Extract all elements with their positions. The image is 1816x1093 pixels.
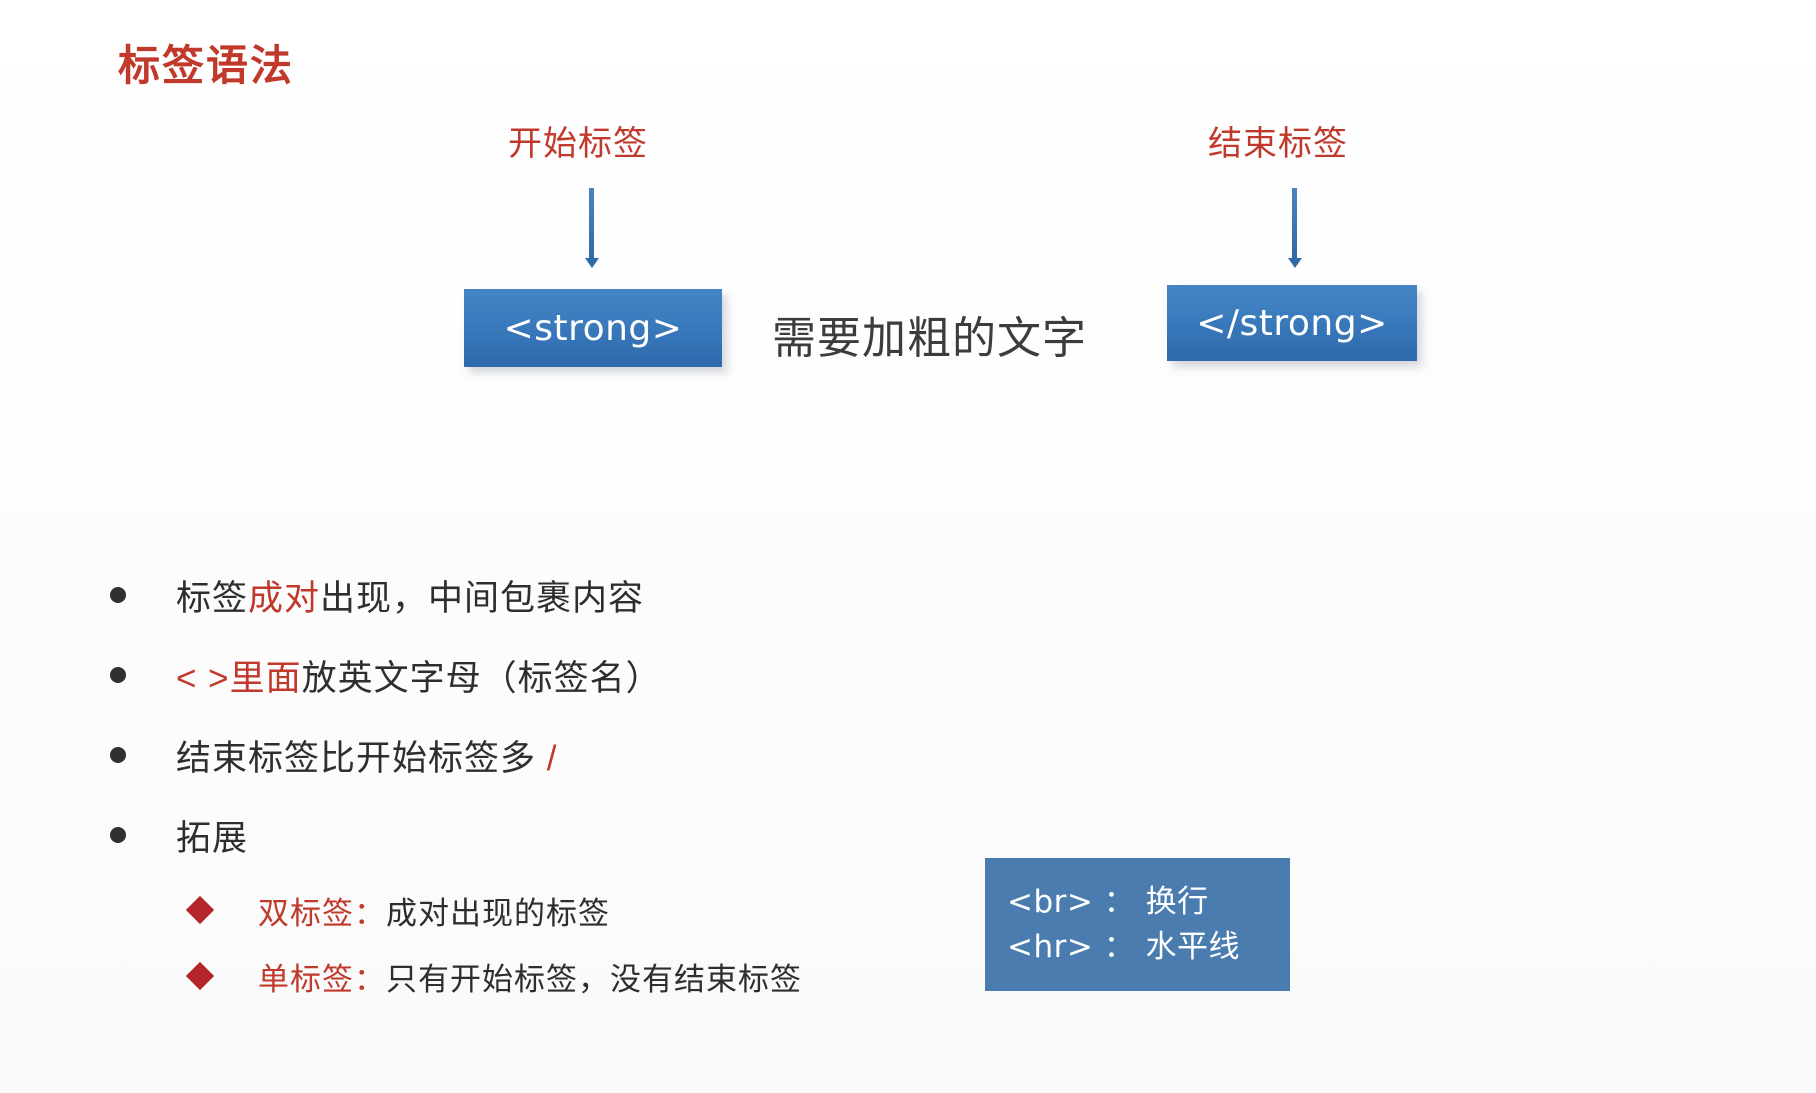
bullet-text: 拓展 [176, 810, 248, 861]
page-title: 标签语法 [118, 32, 294, 93]
plain-text-run: 拓展 [176, 819, 248, 858]
bullet-dot-icon [110, 667, 126, 683]
list-item: < >里面放英文字母（标签名） [110, 635, 1010, 715]
sub-bullet-description: 只有开始标签，没有结束标签 [386, 962, 802, 997]
start-tag-connector-arrow [589, 188, 594, 261]
highlighted-text-run: < >里面 [176, 659, 302, 698]
bullet-text: 标签成对出现，中间包裹内容 [176, 570, 644, 621]
plain-text-run: 放英文字母（标签名） [302, 659, 662, 698]
sub-bullet-text: 双标签：成对出现的标签 [258, 888, 610, 933]
highlighted-text-run: / [547, 739, 558, 778]
arrow-down-icon [585, 258, 599, 268]
bullet-text: < >里面放英文字母（标签名） [176, 650, 662, 701]
sub-bullet-term: 双标签 [258, 896, 354, 931]
sub-bullet-list: 双标签：成对出现的标签 单标签：只有开始标签，没有结束标签 [190, 877, 802, 1009]
bullet-dot-icon [110, 747, 126, 763]
slide-canvas: 标签语法 开始标签 结束标签 <strong> 需要加粗的文字 </strong… [0, 0, 1816, 1093]
list-item: 拓展 [110, 795, 1010, 875]
info-line-br: <br> ： 换行 [1007, 880, 1290, 925]
open-tag-box: <strong> [464, 289, 722, 367]
arrow-down-icon [1288, 258, 1302, 268]
plain-text-run: 出现，中间包裹内容 [320, 579, 644, 618]
end-tag-connector-arrow [1292, 188, 1297, 261]
highlighted-text-run: 成对 [248, 579, 320, 618]
sub-bullet-term: 单标签 [258, 962, 354, 997]
start-tag-callout-label: 开始标签 [508, 116, 648, 165]
list-item: 标签成对出现，中间包裹内容 [110, 555, 1010, 635]
bullet-text: 结束标签比开始标签多 / [176, 730, 557, 781]
sub-bullet-description: 成对出现的标签 [386, 896, 610, 931]
close-tag-box: </strong> [1167, 285, 1417, 361]
info-line-hr: <hr> ： 水平线 [1007, 925, 1290, 970]
bullet-list: 标签成对出现，中间包裹内容 < >里面放英文字母（标签名） 结束标签比开始标签多… [110, 555, 1010, 875]
sub-list-item: 双标签：成对出现的标签 [190, 877, 802, 943]
diamond-bullet-icon [186, 962, 214, 990]
plain-text-run: 结束标签比开始标签多 [176, 739, 547, 778]
diamond-bullet-icon [186, 896, 214, 924]
plain-text-run: 标签 [176, 579, 248, 618]
end-tag-callout-label: 结束标签 [1208, 116, 1348, 165]
sub-bullet-text: 单标签：只有开始标签，没有结束标签 [258, 954, 802, 999]
wrapped-content-text: 需要加粗的文字 [772, 302, 1087, 366]
bullet-dot-icon [110, 587, 126, 603]
sub-list-item: 单标签：只有开始标签，没有结束标签 [190, 943, 802, 1009]
void-tags-info-box: <br> ： 换行 <hr> ： 水平线 [985, 858, 1290, 991]
sub-bullet-separator: ： [354, 896, 386, 931]
sub-bullet-separator: ： [354, 962, 386, 997]
bullet-dot-icon [110, 827, 126, 843]
list-item: 结束标签比开始标签多 / [110, 715, 1010, 795]
